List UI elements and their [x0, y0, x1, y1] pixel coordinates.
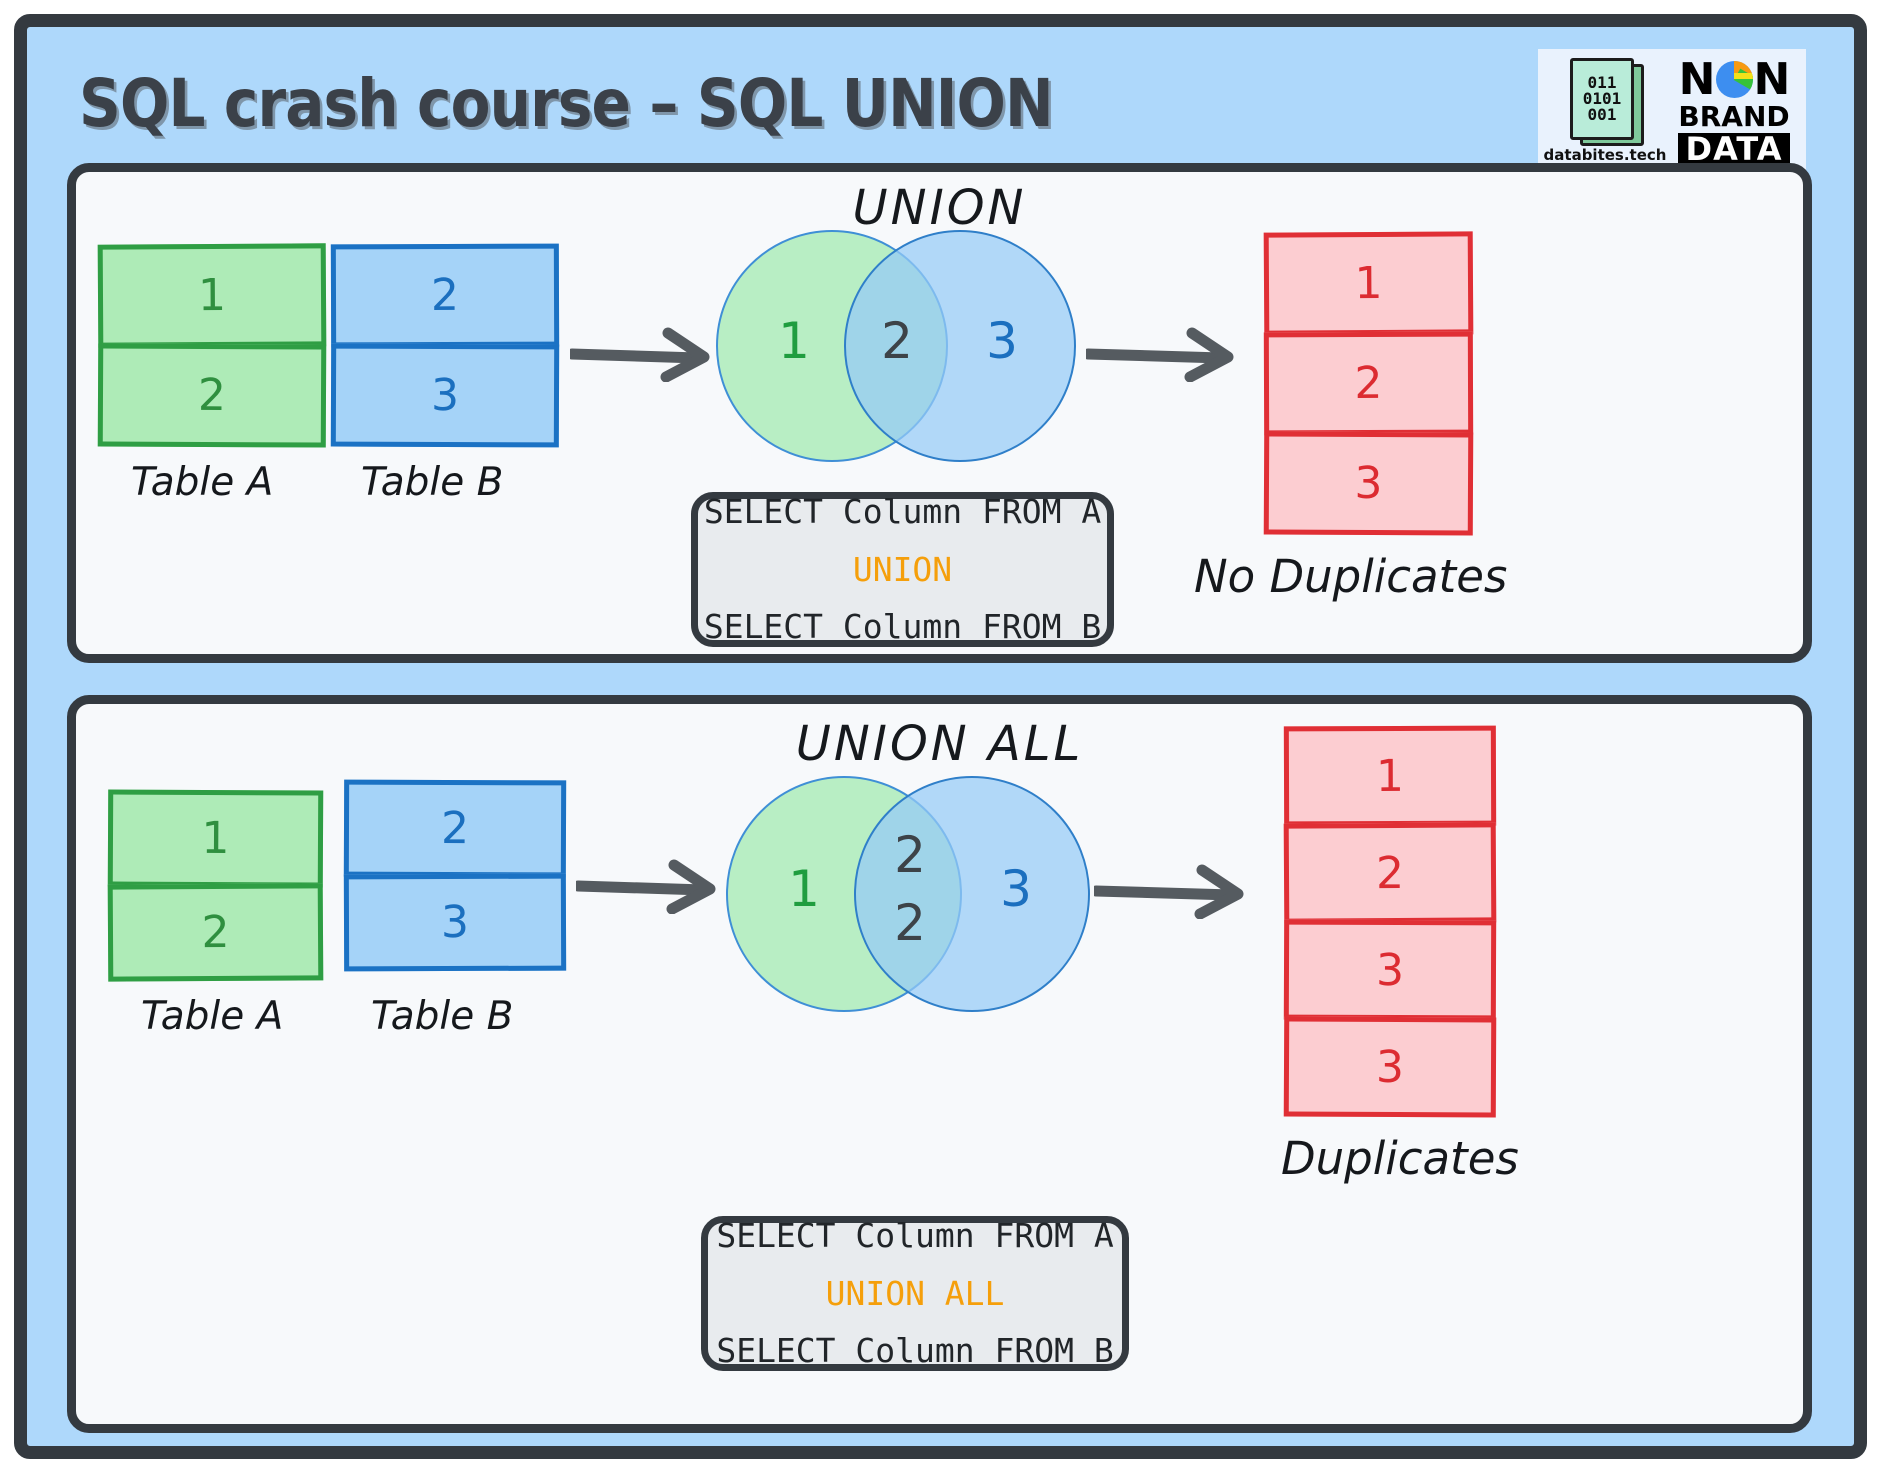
union-table-b: 2 3: [331, 244, 559, 447]
venn-label-overlap: 2: [861, 312, 933, 370]
document-binary-icon: 011 0101 001: [1568, 58, 1642, 144]
table-cell: 1: [1264, 231, 1474, 335]
code-line-select-a: SELECT Column FROM A: [704, 483, 1101, 541]
arrow-venn-to-result: [1094, 859, 1256, 919]
table-cell: 3: [1284, 920, 1496, 1021]
table-cell: 2: [98, 343, 327, 447]
arrow-tables-to-venn: [570, 322, 722, 382]
venn-label-left: 1: [768, 860, 840, 918]
logo-block: 011 0101 001 databites.tech N: [1538, 49, 1806, 173]
venn-label-right: 3: [966, 312, 1038, 370]
union-all-table-b: 2 3: [344, 780, 566, 971]
document-front-sheet: 011 0101 001: [1570, 58, 1634, 140]
union-all-table-a-caption: Table A: [141, 994, 283, 1039]
union-all-table-a: 1 2: [108, 790, 323, 981]
venn-label-overlap-2: 2: [874, 894, 946, 952]
union-table-a-caption: Table A: [131, 460, 273, 505]
union-result-table: 1 2 3: [1264, 232, 1473, 535]
databites-label: databites.tech: [1544, 146, 1667, 164]
nbd-letter-n-right: N: [1754, 58, 1790, 102]
nbd-wordmark-data: DATA: [1678, 133, 1791, 165]
pie-slice-yellow: [1734, 73, 1753, 79]
arrow-tables-to-venn: [576, 854, 728, 914]
pie-chart-icon: [1716, 61, 1753, 98]
table-cell: 2: [344, 780, 566, 878]
table-cell: 2: [1264, 332, 1473, 436]
union-venn-diagram: 1 2 3: [716, 230, 1086, 470]
header: SQL crash course – SQL UNION 011 0101 00…: [27, 27, 1854, 185]
binary-line-3: 001: [1588, 107, 1617, 123]
code-line-keyword: UNION: [853, 541, 952, 599]
nbd-letter-n-left: N: [1679, 58, 1715, 102]
table-cell: 1: [98, 243, 327, 347]
panel-union: UNION 1 2 Table A 2 3 Table B: [67, 163, 1812, 663]
nonbranddata-logo: N N BRAND DATA: [1668, 58, 1800, 165]
venn-label-right: 3: [980, 860, 1052, 918]
union-code-box: SELECT Column FROM A UNION SELECT Column…: [691, 492, 1114, 647]
table-cell: 1: [108, 789, 323, 887]
code-line-select-b: SELECT Column FROM B: [704, 598, 1101, 656]
table-cell: 3: [1284, 1016, 1496, 1117]
nbd-wordmark-line1: N N: [1679, 58, 1790, 102]
venn-label-overlap-1: 2: [874, 826, 946, 884]
table-cell: 3: [1264, 431, 1474, 535]
union-table-b-caption: Table B: [361, 460, 503, 505]
union-all-table-b-caption: Table B: [371, 994, 513, 1039]
outer-frame: SQL crash course – SQL UNION 011 0101 00…: [14, 14, 1867, 1459]
diagram-canvas: SQL crash course – SQL UNION 011 0101 00…: [0, 0, 1881, 1473]
page-title: SQL crash course – SQL UNION: [79, 65, 1053, 142]
union-all-code-box: SELECT Column FROM A UNION ALL SELECT Co…: [701, 1216, 1129, 1371]
table-cell: 3: [344, 874, 566, 972]
table-cell: 1: [1284, 726, 1496, 827]
union-all-result-caption: Duplicates: [1281, 1132, 1519, 1185]
venn-label-left: 1: [758, 312, 830, 370]
code-line-select-a: SELECT Column FROM A: [716, 1207, 1113, 1265]
table-cell: 3: [331, 344, 559, 448]
union-all-venn-diagram: 1 2 2 3: [726, 776, 1096, 1026]
table-cell: 2: [1284, 822, 1497, 923]
union-all-result-table: 1 2 3 3: [1284, 726, 1496, 1117]
table-cell: 2: [331, 244, 559, 348]
union-table-a: 1 2: [98, 244, 326, 447]
arrow-venn-to-result: [1086, 322, 1246, 382]
databites-logo: 011 0101 001 databites.tech: [1544, 58, 1666, 164]
table-cell: 2: [108, 883, 324, 981]
code-line-select-b: SELECT Column FROM B: [716, 1322, 1113, 1380]
code-line-keyword: UNION ALL: [826, 1265, 1005, 1323]
panel-union-all-title: UNION ALL: [76, 716, 1803, 772]
panel-union-all: UNION ALL 1 2 Table A 2 3 Table B: [67, 695, 1812, 1433]
union-result-caption: No Duplicates: [1194, 550, 1507, 603]
nbd-wordmark-brand: BRAND: [1678, 103, 1789, 131]
panel-union-title: UNION: [76, 180, 1803, 236]
